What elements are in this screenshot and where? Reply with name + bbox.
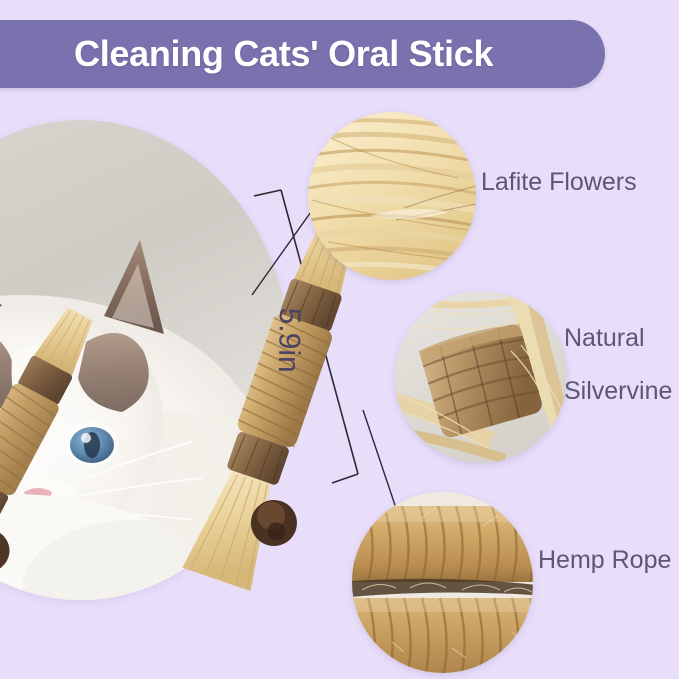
cat-photo-art: [0, 120, 290, 600]
page-title: Cleaning Cats' Oral Stick: [40, 20, 645, 88]
label-hemp-rope: Hemp Rope: [538, 546, 671, 575]
hemp-rope-inset: [352, 492, 533, 673]
silvervine-inset: [395, 291, 567, 463]
cat-photo: [0, 120, 290, 600]
product-infographic: Cleaning Cats' Oral Stick: [0, 0, 679, 679]
label-lafite-flowers: Lafite Flowers: [481, 168, 637, 197]
hemp-rope-art: [352, 492, 533, 673]
label-natural: Natural: [564, 324, 645, 353]
silvervine-art: [395, 291, 567, 463]
lafite-flowers-inset: [308, 112, 476, 280]
label-silvervine: Silvervine: [564, 377, 672, 406]
lafite-flowers-art: [308, 112, 476, 280]
dimension-label: 5.9in: [271, 307, 306, 373]
connector-hemp: [363, 410, 400, 520]
